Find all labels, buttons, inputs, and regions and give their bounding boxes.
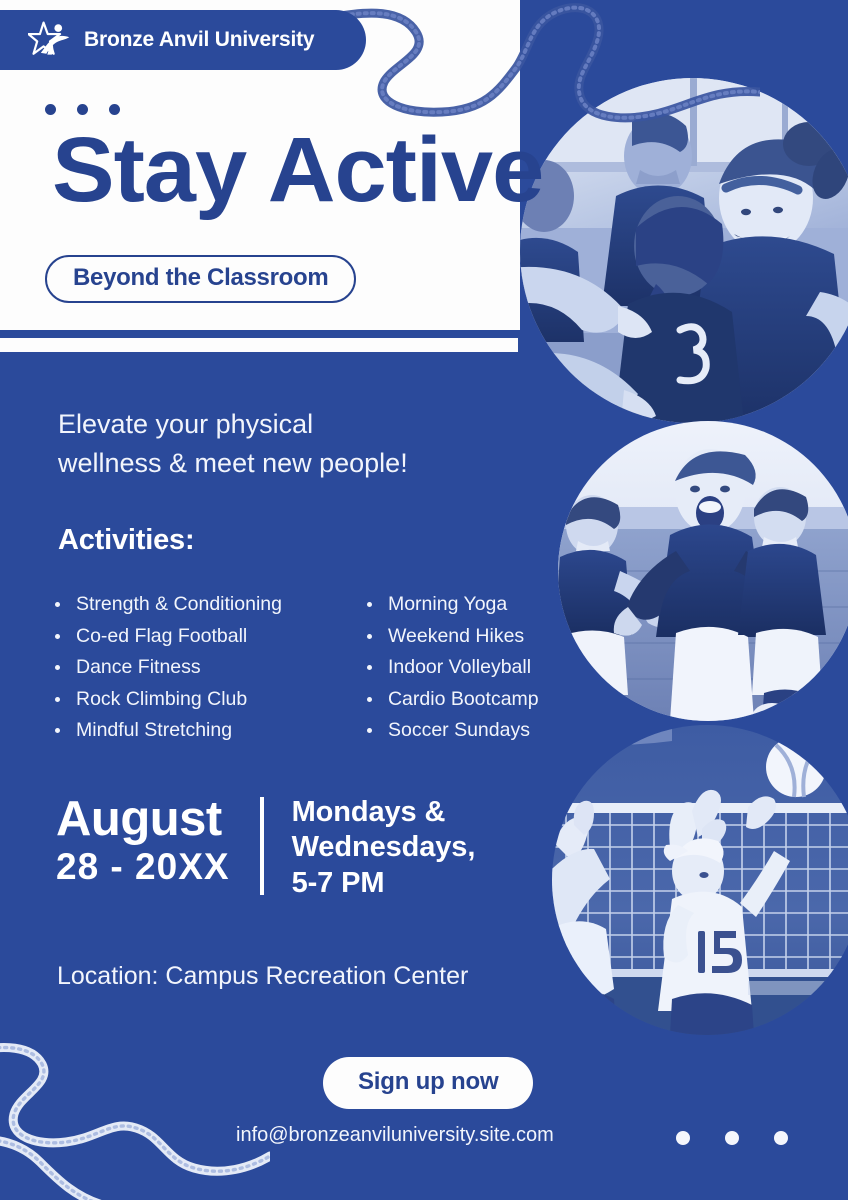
- poster-canvas: Bronze Anvil University Stay Active Beyo…: [0, 0, 848, 1200]
- event-day-year: 28 - 20XX: [56, 844, 230, 890]
- list-item: Rock Climbing Club: [52, 684, 282, 716]
- list-item: Dance Fitness: [52, 652, 282, 684]
- event-time: Mondays & Wednesdays, 5-7 PM: [264, 795, 476, 901]
- list-item: Soccer Sundays: [364, 715, 539, 747]
- hero-divider-band: [0, 338, 518, 352]
- hero-dot: [77, 104, 88, 115]
- photo-soccer-celebration: [558, 421, 848, 721]
- brand-name: Bronze Anvil University: [84, 28, 314, 52]
- hero-dot-row: [45, 104, 120, 115]
- photo-athletes-hugging: [520, 78, 848, 423]
- list-item: Cardio Bootcamp: [364, 684, 539, 716]
- squiggle-line-icon: [0, 1010, 270, 1200]
- footer-dot: [676, 1131, 690, 1145]
- brand-header: Bronze Anvil University: [0, 10, 366, 70]
- sign-up-button[interactable]: Sign up now: [323, 1057, 533, 1109]
- footer-dot: [725, 1131, 739, 1145]
- page-title: Stay Active: [52, 126, 543, 214]
- activities-heading: Activities:: [58, 524, 194, 557]
- activities-list-left: Strength & Conditioning Co-ed Flag Footb…: [52, 589, 282, 747]
- event-date: August 28 - 20XX: [56, 795, 260, 901]
- activities-list-right: Morning Yoga Weekend Hikes Indoor Volley…: [364, 589, 539, 747]
- hero-dot: [109, 104, 120, 115]
- footer-dot: [774, 1131, 788, 1145]
- photo-volleyball-net: [552, 725, 848, 1035]
- schedule-block: August 28 - 20XX Mondays & Wednesdays, 5…: [56, 795, 475, 901]
- event-location: Location: Campus Recreation Center: [57, 962, 468, 991]
- contact-email[interactable]: info@bronzeanviluniversity.site.com: [236, 1124, 554, 1147]
- list-item: Morning Yoga: [364, 589, 539, 621]
- hero-subtitle-pill: Beyond the Classroom: [45, 255, 356, 303]
- list-item: Weekend Hikes: [364, 621, 539, 653]
- list-item: Strength & Conditioning: [52, 589, 282, 621]
- event-month: August: [56, 795, 230, 844]
- list-item: Indoor Volleyball: [364, 652, 539, 684]
- list-item: Co-ed Flag Football: [52, 621, 282, 653]
- activities-lists: Strength & Conditioning Co-ed Flag Footb…: [52, 589, 539, 747]
- hero-dot: [45, 104, 56, 115]
- list-item: Mindful Stretching: [52, 715, 282, 747]
- footer-dot-row: [676, 1131, 788, 1145]
- star-athlete-icon: [28, 18, 72, 62]
- intro-text: Elevate your physical wellness & meet ne…: [58, 405, 408, 483]
